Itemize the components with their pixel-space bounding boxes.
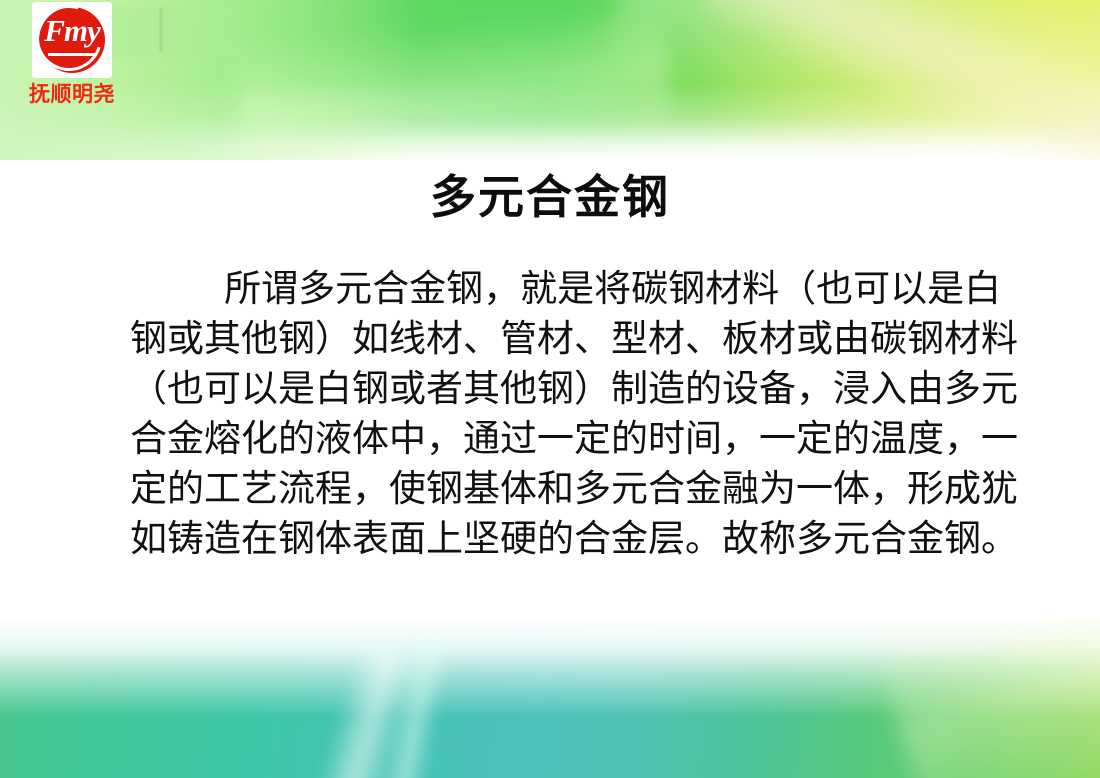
- bottom-band-swoosh-right: [877, 618, 1100, 778]
- slide-title: 多元合金钢: [0, 168, 1100, 226]
- logo-caption: 抚顺明尧: [14, 82, 130, 107]
- slide-body-text: 所谓多元合金钢，就是将碳钢材料（也可以是白钢或其他钢）如线材、管材、型材、板材或…: [0, 264, 1100, 564]
- logo-underline-shape: [48, 53, 96, 56]
- top-decorative-band: [0, 0, 1100, 160]
- slide-content: 多元合金钢 所谓多元合金钢，就是将碳钢材料（也可以是白钢或其他钢）如线材、管材、…: [0, 155, 1100, 564]
- logo-monogram: Fmy: [32, 14, 112, 48]
- bottom-decorative-band: [0, 618, 1100, 778]
- company-logo-icon: Fmy: [32, 2, 112, 78]
- top-band-streak: [160, 8, 162, 52]
- presentation-slide: Fmy 抚顺明尧 多元合金钢 所谓多元合金钢，就是将碳钢材料（也可以是白钢或其他…: [0, 0, 1100, 778]
- company-logo: Fmy 抚顺明尧: [14, 2, 134, 107]
